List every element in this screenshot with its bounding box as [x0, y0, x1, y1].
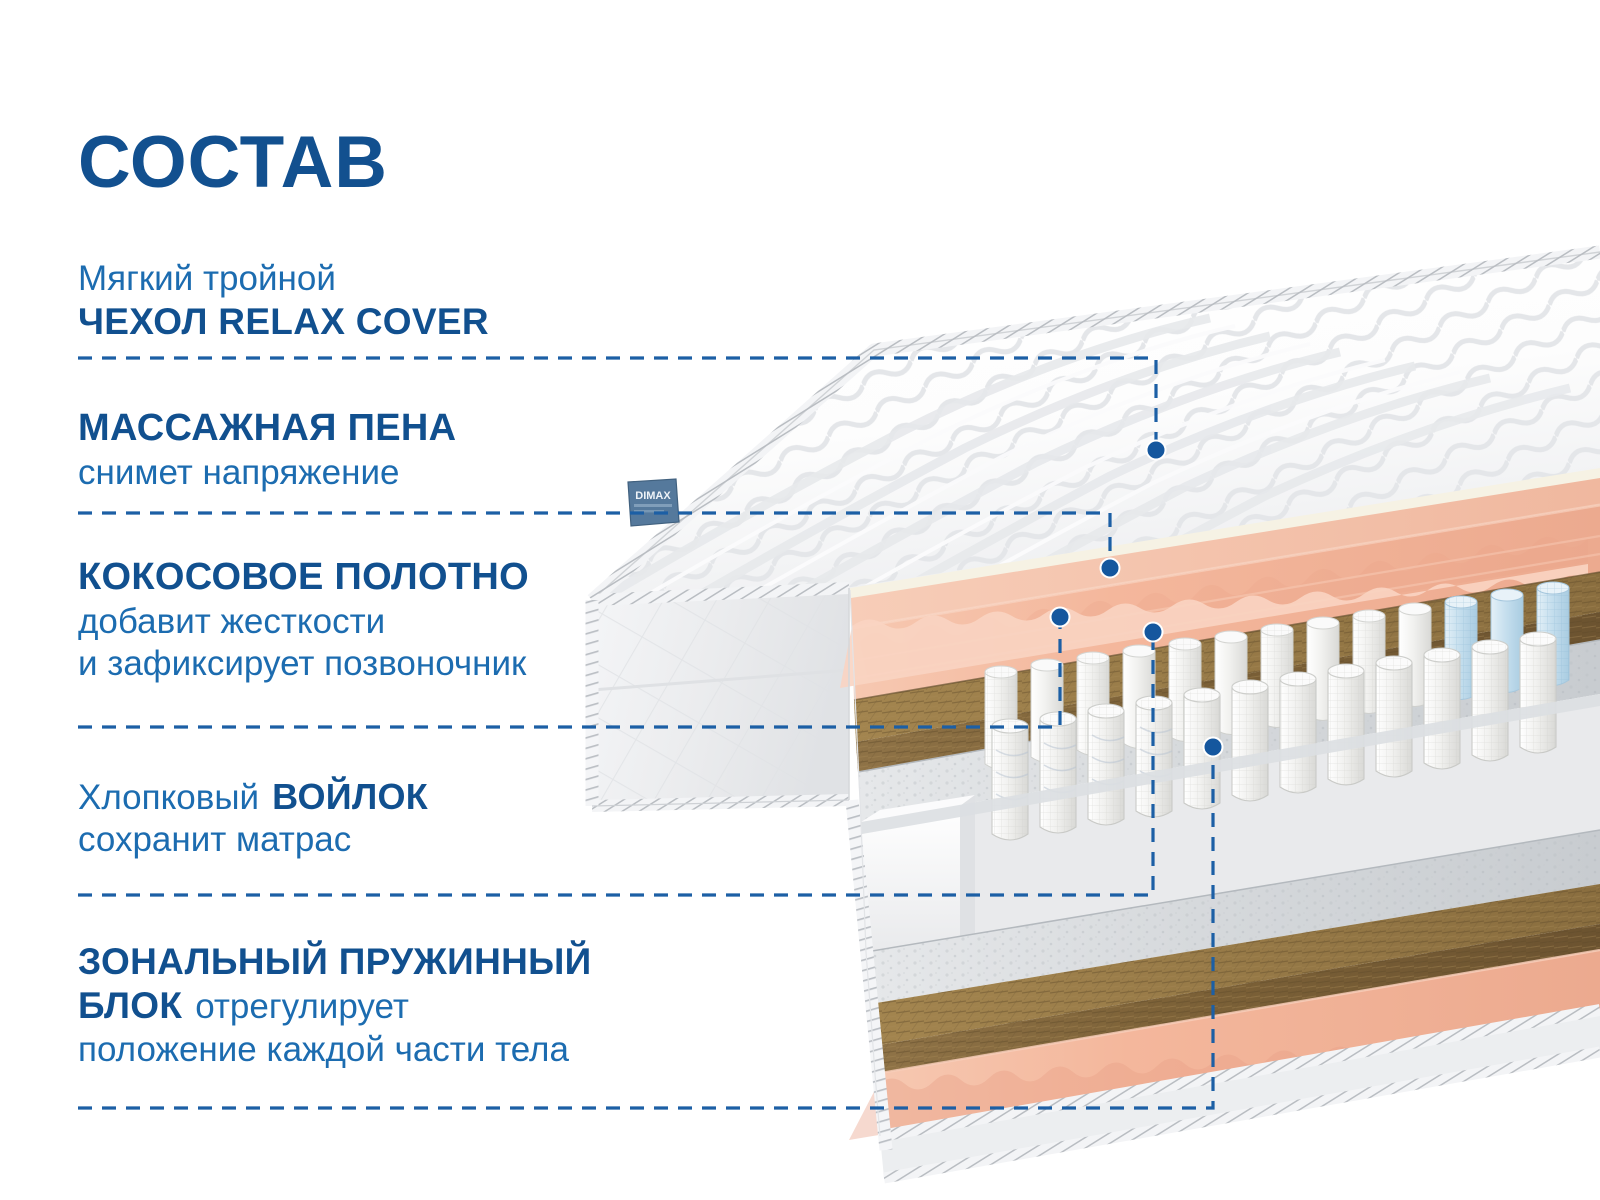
label-spring-line1: ЗОНАЛЬНЫЙ ПРУЖИННЫЙ — [78, 940, 592, 984]
label-felt-keyword: ВОЙЛОК — [272, 776, 428, 817]
label-coconut-line2: добавит жесткости — [78, 601, 529, 643]
brand-tag-label: DIMAX — [635, 490, 671, 502]
mattress-cut-edge — [592, 800, 880, 1136]
label-felt-prefix: Хлопковый — [78, 778, 259, 817]
label-spring-line3: положение каждой части тела — [78, 1029, 592, 1071]
label-cover-line1: Мягкий тройной — [78, 258, 489, 300]
label-spring-verb: отрегулирует — [195, 987, 409, 1026]
page-title: СОСТАВ — [78, 126, 388, 199]
label-spring-block: ЗОНАЛЬНЫЙ ПРУЖИННЫЙ БЛОКотрегулирует пол… — [78, 940, 592, 1071]
label-felt-line1: ХлопковыйВОЙЛОК — [78, 775, 428, 819]
label-coconut: КОКОСОВОЕ ПОЛОТНО добавит жесткости и за… — [78, 555, 529, 685]
label-felt: ХлопковыйВОЙЛОК сохранит матрас — [78, 775, 428, 861]
label-coconut-line3: и зафиксирует позвоночник — [78, 643, 529, 685]
brand-tag: DIMAX — [628, 479, 679, 526]
label-massage-foam: МАССАЖНАЯ ПЕНА снимет напряжение — [78, 406, 456, 494]
label-spring-line2: БЛОКотрегулирует — [78, 984, 592, 1028]
label-foam-line1: МАССАЖНАЯ ПЕНА — [78, 406, 456, 452]
label-foam-line2: снимет напряжение — [78, 452, 456, 494]
label-spring-keyword: БЛОК — [78, 985, 182, 1026]
label-cover-line2: ЧЕХОЛ RELAX COVER — [78, 300, 489, 344]
label-cover: Мягкий тройной ЧЕХОЛ RELAX COVER — [78, 258, 489, 344]
label-felt-line2: сохранит матрас — [78, 819, 428, 861]
infographic-canvas: DIMAX — [0, 0, 1600, 1200]
label-coconut-line1: КОКОСОВОЕ ПОЛОТНО — [78, 555, 529, 601]
